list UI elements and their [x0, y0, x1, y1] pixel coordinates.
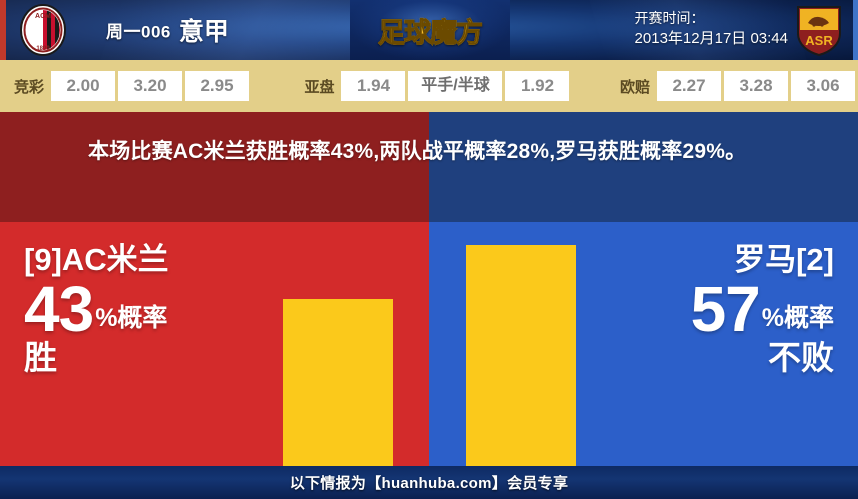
odds-group-label: 亚盘 — [304, 76, 334, 97]
home-team-stats: [9]AC米兰 43 %概率 胜 — [24, 244, 169, 376]
footer-bar: 以下情报为【huanhuba.com】会员专享 — [0, 466, 858, 499]
away-outcome-label: 不败 — [691, 341, 834, 376]
summary-band: 本场比赛AC米兰获胜概率43%,两队战平概率28%,罗马获胜概率29%。 — [0, 112, 858, 222]
summary-left-half — [0, 112, 429, 222]
match-prediction-graphic: ACM 1899 周一006意甲 足球魔方 开赛时间： 2013年12月17日 … — [0, 0, 858, 499]
summary-right-half — [429, 112, 858, 222]
odds-value[interactable]: 3.28 — [724, 71, 788, 101]
team-comparison-panels: [9]AC米兰 43 %概率 胜 罗马[2] 57 %概率 不败 — [0, 222, 858, 466]
away-team-panel: 罗马[2] 57 %概率 不败 — [429, 222, 858, 466]
away-probability-value: 57 — [691, 279, 760, 340]
away-probability-suffix: %概率 — [762, 307, 834, 340]
brand-logo-text: 足球魔方 — [378, 11, 482, 50]
odds-handicap-line[interactable]: 平手/半球 — [408, 71, 502, 101]
odds-value[interactable]: 2.00 — [51, 71, 115, 101]
odds-group-jingcai: 竞彩 2.00 3.20 2.95 — [0, 60, 252, 112]
svg-text:1899: 1899 — [36, 46, 50, 52]
kickoff-time: 2013年12月17日 03:44 — [635, 28, 788, 50]
home-probability-row: 43 %概率 — [24, 279, 169, 340]
home-team-panel: [9]AC米兰 43 %概率 胜 — [0, 222, 429, 466]
footer-text: 以下情报为【huanhuba.com】会员专享 — [290, 472, 569, 493]
odds-value[interactable]: 3.06 — [791, 71, 855, 101]
home-team-name: [9]AC米兰 — [24, 244, 169, 277]
home-probability-suffix: %概率 — [95, 307, 167, 340]
kickoff-label: 开赛时间： — [635, 8, 788, 28]
odds-group-label: 欧赔 — [620, 76, 650, 97]
kickoff-info: 开赛时间： 2013年12月17日 03:44 — [635, 8, 788, 50]
ac-milan-crest: ACM 1899 — [18, 3, 68, 57]
odds-value[interactable]: 2.27 — [657, 71, 721, 101]
away-probability-row: 57 %概率 — [691, 279, 834, 340]
svg-text:ASR: ASR — [805, 33, 833, 48]
home-probability-bar — [283, 299, 393, 466]
header-right-accent-stripe — [853, 0, 858, 60]
summary-text: 本场比赛AC米兰获胜概率43%,两队战平概率28%,罗马获胜概率29%。 — [88, 138, 788, 167]
away-probability-bar — [466, 245, 576, 466]
as-roma-crest: ASR — [794, 3, 844, 57]
match-round-label: 周一006 — [106, 23, 171, 42]
match-title: 周一006意甲 — [106, 12, 229, 48]
league-name: 意甲 — [179, 18, 229, 46]
odds-value[interactable]: 3.20 — [118, 71, 182, 101]
home-probability-value: 43 — [24, 279, 93, 340]
odds-value[interactable]: 2.95 — [185, 71, 249, 101]
home-outcome-label: 胜 — [24, 341, 169, 376]
svg-text:ACM: ACM — [35, 13, 51, 20]
away-team-stats: 罗马[2] 57 %概率 不败 — [691, 244, 834, 376]
away-team-name: 罗马[2] — [691, 244, 834, 277]
odds-group-label: 竞彩 — [14, 76, 44, 97]
odds-group-asian-handicap: 亚盘 1.94 平手/半球 1.92 — [290, 60, 572, 112]
odds-bar: 竞彩 2.00 3.20 2.95 亚盘 1.94 平手/半球 1.92 欧赔 … — [0, 60, 858, 112]
header-bar: ACM 1899 周一006意甲 足球魔方 开赛时间： 2013年12月17日 … — [0, 0, 858, 60]
odds-group-european: 欧赔 2.27 3.28 3.06 — [606, 60, 858, 112]
header-left-accent-stripe — [0, 0, 6, 60]
odds-value[interactable]: 1.92 — [505, 71, 569, 101]
odds-value[interactable]: 1.94 — [341, 71, 405, 101]
brand-logo: 足球魔方 — [350, 0, 510, 60]
